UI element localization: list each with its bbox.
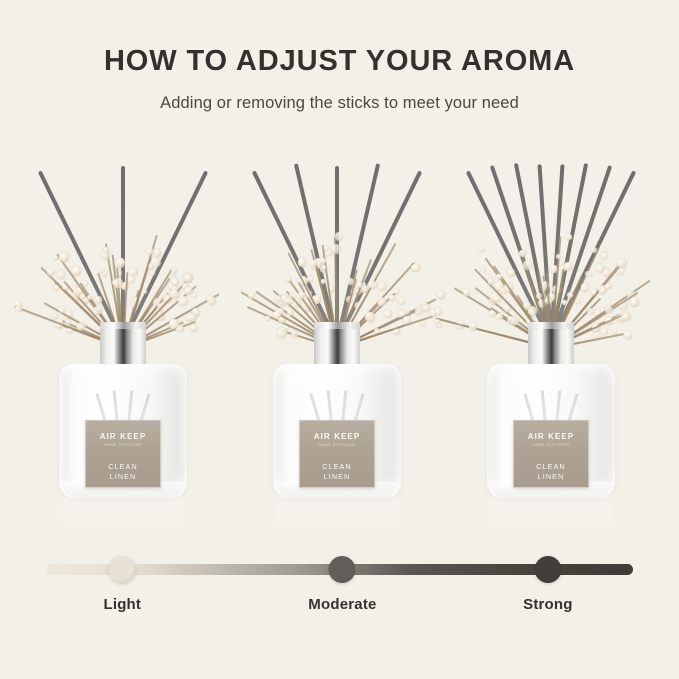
flower-puff xyxy=(59,252,69,262)
label-brand: AIR KEEP xyxy=(514,433,588,441)
flower-puff xyxy=(207,296,216,305)
flower-puff xyxy=(151,258,160,267)
flower-puff xyxy=(463,289,470,296)
flower-puff xyxy=(421,321,426,326)
label-brand: AIR KEEP xyxy=(86,433,160,441)
flower-puff xyxy=(411,264,420,273)
page-subtitle: Adding or removing the sticks to meet yo… xyxy=(0,94,679,113)
flower-puff xyxy=(398,298,405,305)
light-diffuser: AIR KEEPHOME DIFFUSERCLEANLINEN6.76 FL.O… xyxy=(18,120,228,520)
label-scent-line2: LINEN xyxy=(324,472,351,481)
slider-label-light: Light xyxy=(103,596,141,613)
bottle-reflection xyxy=(277,492,397,532)
flower-puff xyxy=(248,292,255,299)
flower-puff xyxy=(591,247,597,253)
flower-puff xyxy=(564,262,573,271)
bottle-body: AIR KEEPHOME DIFFUSERCLEANLINEN6.76 FL.O… xyxy=(59,364,187,498)
flower-puff xyxy=(184,287,192,295)
flower-puff xyxy=(153,249,161,257)
header: HOW TO ADJUST YOUR AROMA Adding or remov… xyxy=(0,0,679,113)
product-label: AIR KEEPHOME DIFFUSERCLEANLINEN6.76 FL.O… xyxy=(513,420,589,488)
bottle-reflection xyxy=(63,492,183,532)
flower-puff xyxy=(15,306,22,313)
flower-puff xyxy=(150,271,155,276)
flower-puff xyxy=(83,281,88,286)
flower-puff xyxy=(47,268,55,276)
label-tagline: HOME DIFFUSER xyxy=(86,444,160,447)
flower-puff xyxy=(171,278,179,286)
reed-arrangement xyxy=(18,120,228,342)
flower-puff xyxy=(184,274,191,281)
flower-puff xyxy=(576,300,581,305)
flower-puff xyxy=(95,296,103,304)
slider-handle-strong[interactable] xyxy=(534,556,561,583)
diffuser-bottle: AIR KEEPHOME DIFFUSERCLEANLINEN6.76 FL.O… xyxy=(487,322,615,498)
flower-puff xyxy=(437,291,445,299)
collar-rim xyxy=(528,322,574,329)
flower-puff xyxy=(53,255,58,260)
flower-puff xyxy=(59,307,65,313)
label-scent-line1: CLEAN xyxy=(322,462,351,471)
diffuser-bottle: AIR KEEPHOME DIFFUSERCLEANLINEN6.76 FL.O… xyxy=(273,322,401,498)
reed-arrangement xyxy=(232,120,442,342)
flower-puff xyxy=(507,269,515,277)
flower-puff xyxy=(481,268,486,273)
bottle-body: AIR KEEPHOME DIFFUSERCLEANLINEN6.76 FL.O… xyxy=(273,364,401,498)
flower-puff xyxy=(307,276,314,283)
flower-puff xyxy=(478,246,484,252)
flower-puff xyxy=(421,303,430,312)
flower-puff xyxy=(297,292,305,300)
flower-puff xyxy=(57,271,65,279)
flower-puff xyxy=(116,258,126,268)
flower-puff xyxy=(523,260,533,270)
bottle-reflection xyxy=(491,492,611,532)
slider-label-moderate: Moderate xyxy=(308,596,376,613)
strong-diffuser: AIR KEEPHOME DIFFUSERCLEANLINEN6.76 FL.O… xyxy=(446,120,656,520)
flower-puff xyxy=(585,271,592,278)
flower-puff xyxy=(566,234,572,240)
flower-puff xyxy=(581,283,589,291)
slider-label-strong: Strong xyxy=(523,596,573,613)
bottle-body: AIR KEEPHOME DIFFUSERCLEANLINEN6.76 FL.O… xyxy=(487,364,615,498)
flower-puff xyxy=(192,293,197,298)
label-scent-line2: LINEN xyxy=(110,472,137,481)
product-label: AIR KEEPHOME DIFFUSERCLEANLINEN6.76 FL.O… xyxy=(299,420,375,488)
flower-puff xyxy=(186,313,194,321)
flower-puff xyxy=(605,306,613,314)
flower-puff xyxy=(469,323,476,330)
flower-puff xyxy=(369,281,377,289)
flower-puff xyxy=(331,244,341,254)
flower-puff xyxy=(587,308,594,315)
flower-puff xyxy=(72,266,82,276)
flower-puff xyxy=(310,260,316,266)
flower-puff xyxy=(621,312,630,321)
flower-puff xyxy=(435,308,442,315)
page-title: HOW TO ADJUST YOUR AROMA xyxy=(0,45,679,78)
flower-puff xyxy=(389,295,395,301)
slider-handle-moderate[interactable] xyxy=(329,556,356,583)
product-row: AIR KEEPHOME DIFFUSERCLEANLINEN6.76 FL.O… xyxy=(0,120,679,520)
label-brand: AIR KEEP xyxy=(300,433,374,441)
flower-puff xyxy=(170,290,179,299)
label-tagline: HOME DIFFUSER xyxy=(300,444,374,447)
diffuser-bottle: AIR KEEPHOME DIFFUSERCLEANLINEN6.76 FL.O… xyxy=(59,322,187,498)
flower-puff xyxy=(178,296,188,306)
flower-puff xyxy=(335,232,343,240)
flower-puff xyxy=(617,259,626,268)
flower-puff xyxy=(265,316,270,321)
slider-handle-light[interactable] xyxy=(109,556,136,583)
flower-puff xyxy=(289,293,294,298)
label-tagline: HOME DIFFUSER xyxy=(514,444,588,447)
flower-puff xyxy=(54,285,59,290)
label-scent-line2: LINEN xyxy=(538,472,565,481)
flower-puff xyxy=(556,254,561,259)
flower-puff xyxy=(190,324,198,332)
flower-puff xyxy=(378,282,387,291)
flower-puff xyxy=(298,258,307,267)
product-label: AIR KEEPHOME DIFFUSERCLEANLINEN6.76 FL.O… xyxy=(85,420,161,488)
flower-puff xyxy=(488,278,495,285)
flower-puff xyxy=(128,276,135,283)
aroma-adjustment-infographic: HOW TO ADJUST YOUR AROMA Adding or remov… xyxy=(0,0,679,679)
collar-rim xyxy=(314,322,360,329)
flower-puff xyxy=(624,331,632,339)
flower-puff xyxy=(129,268,137,276)
flower-puff xyxy=(53,314,58,319)
flower-puff xyxy=(286,276,291,281)
flower-puff xyxy=(496,274,502,280)
flower-puff xyxy=(365,312,375,322)
flower-puff xyxy=(603,269,610,276)
flower-puff xyxy=(519,250,526,257)
flower-puff xyxy=(384,310,392,318)
intensity-slider[interactable]: LightModerateStrong xyxy=(46,554,633,600)
flower-puff xyxy=(321,279,326,284)
flower-puff xyxy=(562,300,567,305)
flower-puff xyxy=(377,297,386,306)
flower-puff xyxy=(605,284,610,289)
moderate-diffuser: AIR KEEPHOME DIFFUSERCLEANLINEN6.76 FL.O… xyxy=(232,120,442,520)
collar-rim xyxy=(100,322,146,329)
flower-puff xyxy=(630,297,640,307)
label-scent-line1: CLEAN xyxy=(108,462,137,471)
flower-puff xyxy=(284,298,291,305)
reed-arrangement xyxy=(446,120,656,342)
flower-puff xyxy=(437,324,442,329)
label-scent-line1: CLEAN xyxy=(536,462,565,471)
flower-puff xyxy=(601,252,608,259)
flower-puff xyxy=(142,289,147,294)
flower-puff xyxy=(496,313,503,320)
